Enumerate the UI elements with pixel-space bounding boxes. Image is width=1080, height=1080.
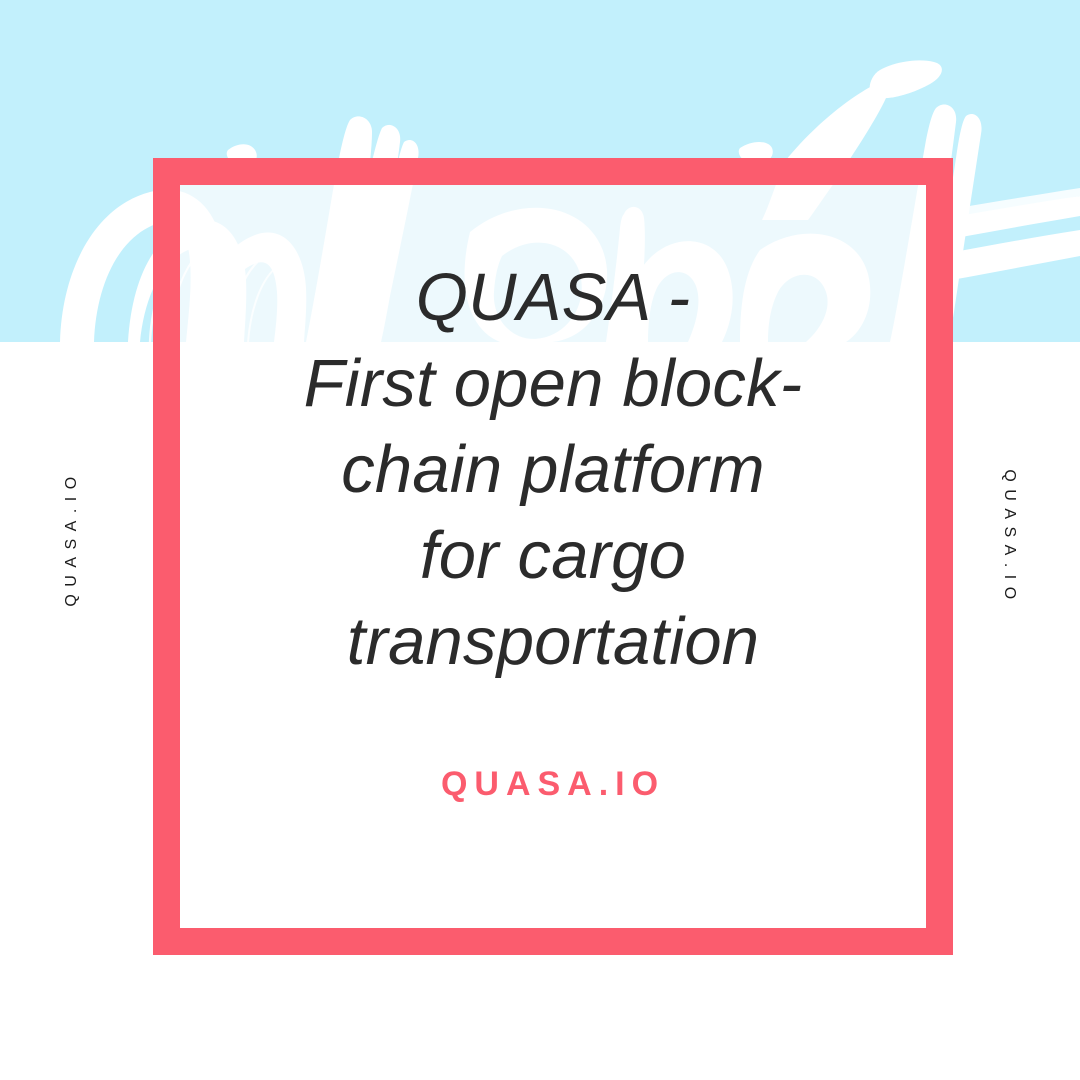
headline-line-2: First open block- [180, 341, 926, 427]
headline: QUASA - First open block- chain platform… [180, 255, 926, 685]
side-mark-left: QUASA.IO [63, 469, 81, 606]
headline-line-1: QUASA - [180, 255, 926, 341]
headline-line-4: for cargo [180, 513, 926, 599]
headline-line-5: transportation [180, 599, 926, 685]
brand-wordmark: QUASA.IO [180, 765, 926, 804]
side-mark-right: QUASA.IO [1000, 469, 1018, 606]
poster-canvas: QUASA - First open block- chain platform… [0, 0, 1080, 1080]
headline-line-3: chain platform [180, 427, 926, 513]
